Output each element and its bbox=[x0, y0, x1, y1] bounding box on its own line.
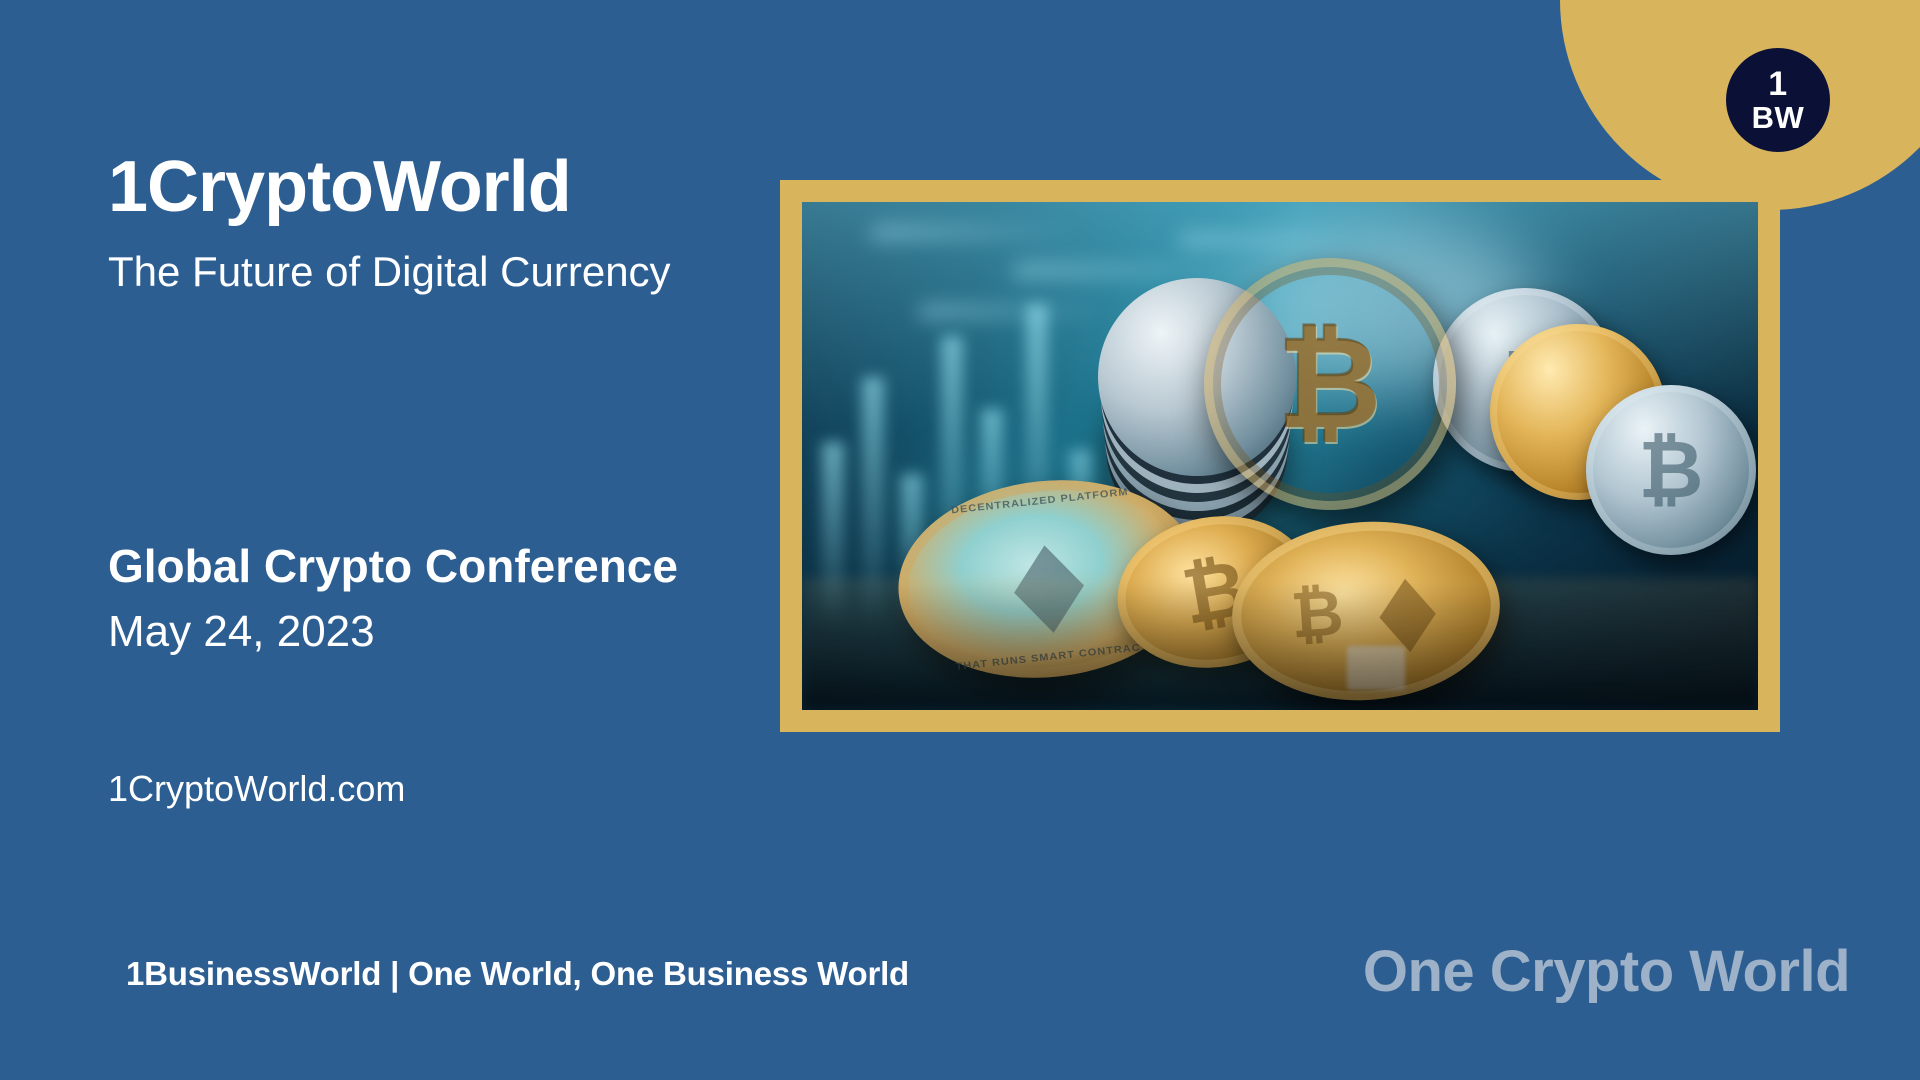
footer-tagline-right: One Crypto World bbox=[1363, 938, 1850, 1005]
brand-block: 1CryptoWorld The Future of Digital Curre… bbox=[108, 150, 748, 296]
photo-reflection bbox=[802, 578, 1758, 710]
website-url[interactable]: 1CryptoWorld.com bbox=[108, 768, 405, 810]
1bw-logo-badge[interactable]: 1 BW bbox=[1726, 48, 1830, 152]
silver-bitcoin-coin bbox=[1586, 385, 1756, 555]
event-name: Global Crypto Conference bbox=[108, 540, 788, 593]
event-date: May 24, 2023 bbox=[108, 607, 788, 658]
badge-line-1: 1 bbox=[1768, 67, 1787, 101]
footer-tagline-left: 1BusinessWorld | One World, One Business… bbox=[126, 955, 909, 993]
photo-frame: DECENTRALIZED PLATFORM THAT RUNS SMART C… bbox=[780, 180, 1780, 732]
event-block: Global Crypto Conference May 24, 2023 bbox=[108, 540, 788, 657]
brand-tagline: The Future of Digital Currency bbox=[108, 248, 748, 296]
gold-bitcoin-coin bbox=[1204, 258, 1456, 510]
badge-line-2: BW bbox=[1752, 102, 1805, 133]
brand-title: 1CryptoWorld bbox=[108, 150, 748, 226]
coin-rim-text-top: DECENTRALIZED PLATFORM bbox=[950, 487, 1128, 516]
promo-banner: 1 BW 1CryptoWorld The Future of Digital … bbox=[0, 0, 1920, 1080]
crypto-coins-photo: DECENTRALIZED PLATFORM THAT RUNS SMART C… bbox=[802, 202, 1758, 710]
